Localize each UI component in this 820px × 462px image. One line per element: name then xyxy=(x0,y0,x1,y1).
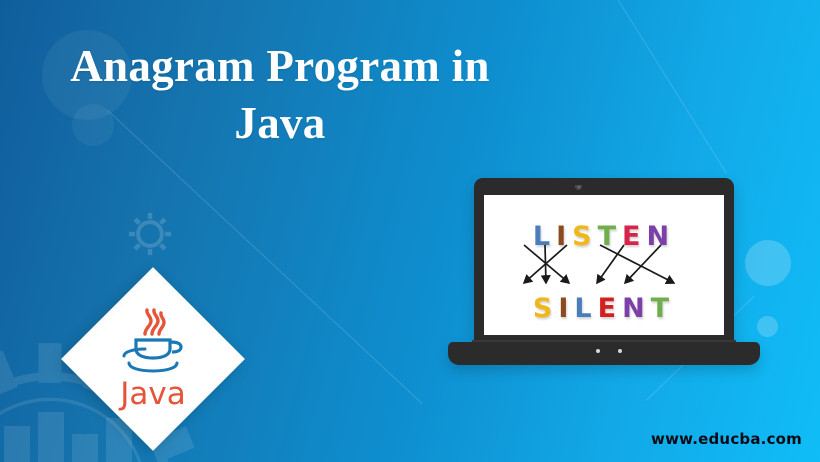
decor-circle-small-right xyxy=(757,316,778,337)
page-title: Anagram Program in Java xyxy=(0,38,560,151)
java-logo-wordmark: Java xyxy=(120,379,185,410)
site-watermark: www.educba.com xyxy=(651,430,802,448)
decor-diagonal-line-top xyxy=(599,0,727,174)
slide-canvas: Anagram Program in Java xyxy=(0,0,820,462)
laptop-base xyxy=(448,342,760,365)
laptop-indicator-dot xyxy=(618,349,622,353)
page-title-line1: Anagram Program in xyxy=(0,38,560,95)
gear-icon xyxy=(128,212,172,256)
page-title-line2: Java xyxy=(0,95,560,152)
webcam-lens-icon xyxy=(578,186,580,188)
laptop-screen: LISTEN SILENT xyxy=(484,195,724,335)
anagram-mapping-arrows xyxy=(484,195,724,335)
java-logo: Java xyxy=(66,272,240,446)
java-coffee-cup-icon xyxy=(115,308,191,378)
laptop-illustration: LISTEN SILENT xyxy=(448,178,760,368)
laptop-indicator-dot xyxy=(596,349,600,353)
